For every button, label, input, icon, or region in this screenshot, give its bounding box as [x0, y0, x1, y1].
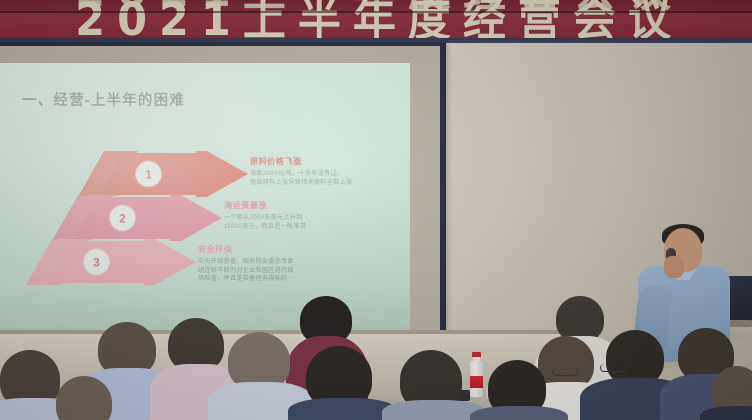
event-banner: 2021上半年度经营会议 2021上半年度经营会议: [0, 0, 752, 40]
banner-title-text: 2021上半年度经营会议: [0, 0, 752, 40]
front-table-edge: [0, 330, 560, 334]
slide-title: 一、经营-上半年的困难: [22, 89, 185, 110]
speaker-hand: [664, 256, 684, 278]
slide-body-3: 中央环保督查、国务院安委办专家 组连续不断的对企业和园区进行现 场检查，并且是带…: [198, 258, 294, 284]
slide-body-1: 液氯2000元/吨，十多年没有过。 基础原料上涨导致相关原料全部上涨: [250, 170, 352, 187]
bottle-body: [470, 361, 483, 397]
conference-room-photo: 2021上半年度经营会议 2021上半年度经营会议 一、经营-上半年的困难 1: [0, 0, 752, 420]
attendee-torso: [470, 406, 568, 420]
arrow-shape-2: [52, 195, 222, 241]
slide-heading-3: 安全环保: [198, 243, 294, 255]
arrow-number-3: 3: [84, 250, 109, 275]
arrow-item-2: 2: [52, 195, 222, 241]
banner-seam: [0, 11, 752, 13]
arrow-item-3: 3: [26, 239, 196, 285]
arrow-shape-1: [78, 151, 248, 197]
arrow-number-2: 2: [110, 206, 135, 231]
slide-heading-2: 海运费暴涨: [224, 199, 306, 211]
water-bottle: [470, 352, 483, 397]
slide-heading-1: 原料价格飞涨: [250, 155, 352, 167]
slide-text-block-2: 海运费暴涨 一个柜从2000多美元上升到 15000美元，而且是一舱难求: [224, 199, 306, 231]
slide-text-block-3: 安全环保 中央环保督查、国务院安委办专家 组连续不断的对企业和园区进行现 场检查…: [198, 243, 294, 284]
projection-screen: 一、经营-上半年的困难 1 2: [0, 63, 410, 338]
eyeglasses-icon: [552, 368, 578, 376]
slide-text-block-1: 原料价格飞涨 液氯2000元/吨，十多年没有过。 基础原料上涨导致相关原料全部上…: [250, 155, 352, 187]
arrow-shape-3: [26, 239, 196, 285]
slide-body-2: 一个柜从2000多美元上升到 15000美元，而且是一舱难求: [224, 214, 306, 231]
eyeglasses-icon: [600, 364, 626, 372]
bottle-label: [470, 376, 483, 388]
arrow-number-1: 1: [136, 162, 161, 187]
arrow-item-1: 1: [78, 151, 248, 197]
